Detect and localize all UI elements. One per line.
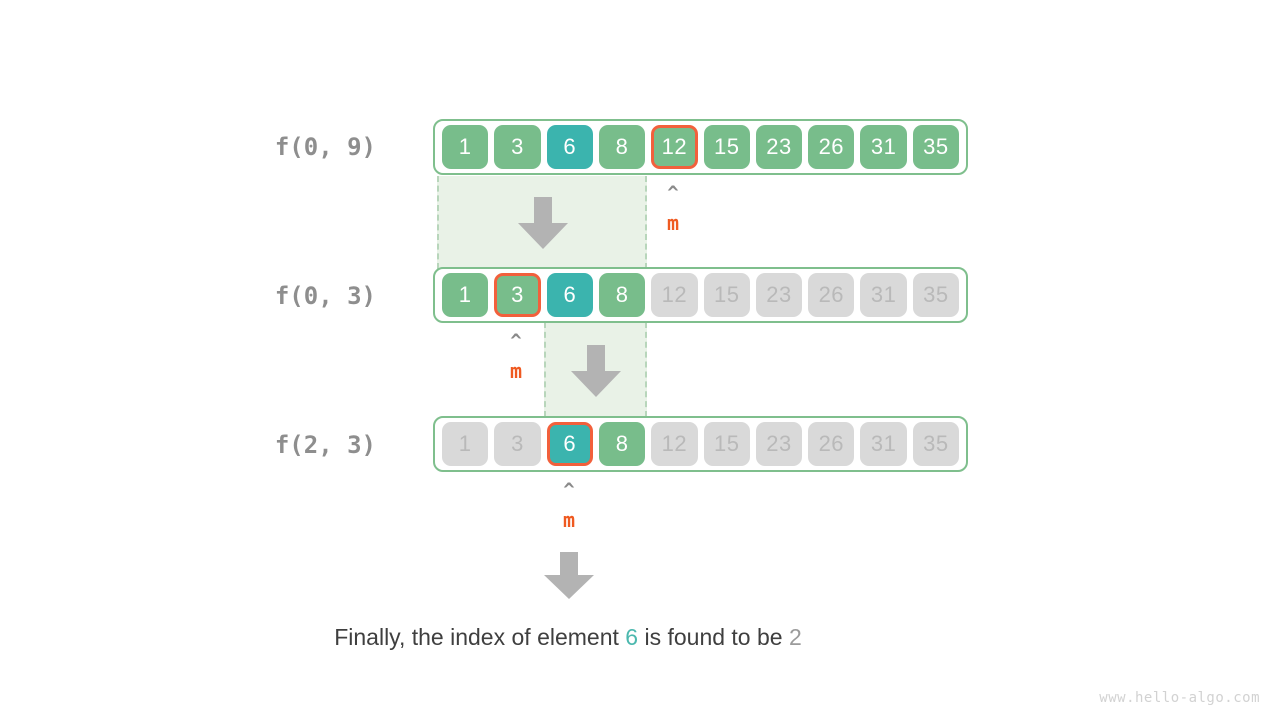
- caret-icon: ^: [496, 333, 536, 349]
- result-caption: Finally, the index of element 6 is found…: [0, 624, 1136, 651]
- array-cell[interactable]: 3: [494, 125, 540, 169]
- array-cell[interactable]: 23: [756, 125, 802, 169]
- mid-pointer-label: m: [549, 508, 589, 532]
- array-cell[interactable]: 8: [599, 422, 645, 466]
- down-arrow-icon-3: [541, 552, 597, 600]
- mid-pointer-0: ^ m: [653, 185, 693, 235]
- array-cell[interactable]: 12: [651, 273, 697, 317]
- caret-icon: ^: [549, 482, 589, 498]
- down-arrow-icon-1: [515, 197, 571, 251]
- mid-pointer-2: ^ m: [549, 482, 589, 532]
- array-cell[interactable]: 31: [860, 422, 906, 466]
- row-label-1: f(0, 3): [176, 282, 376, 310]
- array-cell[interactable]: 1: [442, 273, 488, 317]
- row-label-0: f(0, 9): [176, 133, 376, 161]
- array-cell[interactable]: 23: [756, 273, 802, 317]
- down-arrow-icon-2: [568, 345, 624, 399]
- mid-pointer-label: m: [653, 211, 693, 235]
- array-cell-mid[interactable]: 3: [494, 273, 540, 317]
- array-cell[interactable]: 26: [808, 125, 854, 169]
- caption-prefix: Finally, the index of element: [334, 624, 625, 650]
- array-cell[interactable]: 23: [756, 422, 802, 466]
- array-row-0: 1 3 6 8 12 15 23 26 31 35: [433, 119, 968, 175]
- array-row-2: 1 3 6 8 12 15 23 26 31 35: [433, 416, 968, 472]
- array-cell[interactable]: 15: [704, 273, 750, 317]
- array-cell[interactable]: 15: [704, 125, 750, 169]
- array-cell-mid[interactable]: 6: [547, 422, 593, 466]
- array-row-1: 1 3 6 8 12 15 23 26 31 35: [433, 267, 968, 323]
- mid-pointer-1: ^ m: [496, 333, 536, 383]
- array-cell[interactable]: 6: [547, 273, 593, 317]
- array-cell[interactable]: 15: [704, 422, 750, 466]
- array-cell[interactable]: 31: [860, 125, 906, 169]
- array-cell[interactable]: 26: [808, 422, 854, 466]
- array-cell[interactable]: 35: [913, 422, 959, 466]
- watermark: www.hello-algo.com: [1099, 690, 1260, 706]
- array-cell[interactable]: 26: [808, 273, 854, 317]
- array-cell[interactable]: 35: [913, 125, 959, 169]
- array-cell[interactable]: 6: [547, 125, 593, 169]
- array-cell[interactable]: 1: [442, 422, 488, 466]
- array-cell[interactable]: 3: [494, 422, 540, 466]
- caption-result-index: 2: [789, 624, 802, 650]
- array-cell[interactable]: 8: [599, 273, 645, 317]
- caption-middle: is found to be: [638, 624, 789, 650]
- row-label-2: f(2, 3): [176, 431, 376, 459]
- array-cell[interactable]: 12: [651, 422, 697, 466]
- array-cell[interactable]: 31: [860, 273, 906, 317]
- caret-icon: ^: [653, 185, 693, 201]
- array-cell[interactable]: 8: [599, 125, 645, 169]
- array-cell[interactable]: 35: [913, 273, 959, 317]
- diagram-canvas: f(0, 9) 1 3 6 8 12 15 23 26 31 35 ^ m f(…: [0, 0, 1280, 720]
- caption-target-value: 6: [625, 624, 638, 650]
- array-cell[interactable]: 1: [442, 125, 488, 169]
- mid-pointer-label: m: [496, 359, 536, 383]
- array-cell-mid[interactable]: 12: [651, 125, 697, 169]
